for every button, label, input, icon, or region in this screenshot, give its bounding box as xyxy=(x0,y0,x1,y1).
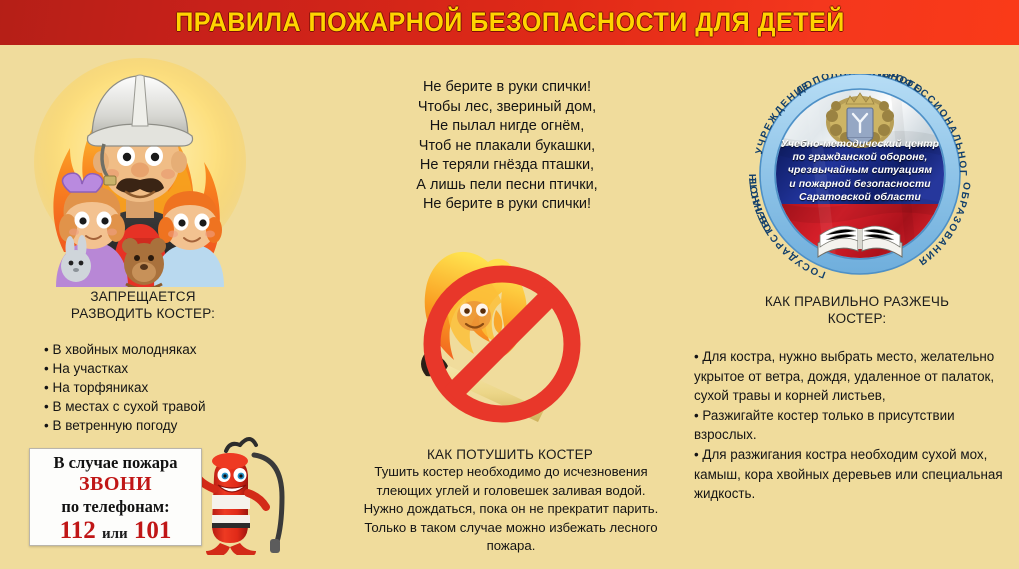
right-section-heading: КАК ПРАВИЛЬНО РАЗЖЕЧЬ КОСТЕР: xyxy=(712,293,1002,327)
phone-numbers: 112 или 101 xyxy=(30,517,201,548)
phone-line-1: В случае пожара xyxy=(30,453,201,473)
poem-line: Не пылал нигде огнём, xyxy=(352,117,662,137)
phone-number-101: 101 xyxy=(134,517,172,544)
list-item: • На участках xyxy=(44,359,274,378)
list-item: • В местах с сухой травой xyxy=(44,397,274,416)
phone-separator: или xyxy=(102,526,128,542)
fire-extinguisher-mascot xyxy=(192,427,300,555)
emblem-center-line: чрезвычайным ситуациям xyxy=(760,164,960,177)
poem-line: Не берите в руки спички! xyxy=(352,195,662,215)
phone-call-label: ЗВОНИ xyxy=(30,473,201,496)
fireman-with-children-illustration xyxy=(26,52,254,287)
center-body-line: Тушить костер необходимо до исчезновения xyxy=(318,463,704,482)
center-body-line: Нужно дождаться, пока он не прекратит па… xyxy=(318,500,704,519)
phone-number-112: 112 xyxy=(60,517,96,544)
center-body-line: пожара. xyxy=(318,537,704,556)
fire-safety-poster: ПРАВИЛА ПОЖАРНОЙ БЕЗОПАСНОСТИ ДЛЯ ДЕТЕЙ xyxy=(0,0,1019,569)
emblem-center-line: Учебно-методический центр xyxy=(760,138,960,151)
left-heading-line2: РАЗВОДИТЬ КОСТЕР: xyxy=(28,305,258,322)
center-section-body: Тушить костер необходимо до исчезновения… xyxy=(318,463,704,556)
campfire-instructions-list: • Для костра, нужно выбрать место, желат… xyxy=(694,347,1014,504)
poem-line: Чтоб не плакали букашки, xyxy=(352,137,662,157)
emergency-phone-sign: В случае пожара ЗВОНИ по телефонам: 112 … xyxy=(29,448,202,546)
list-item: • Для разжигания костра необходим сухой … xyxy=(694,445,1014,504)
list-item: • Для костра, нужно выбрать место, желат… xyxy=(694,347,1014,406)
prohibited-places-list: • В хвойных молодняках • На участках • Н… xyxy=(44,340,274,435)
no-matches-prohibition-sign xyxy=(392,232,590,428)
poem-line: А лишь пели песни птички, xyxy=(352,176,662,196)
emblem-center-line: Саратовской области xyxy=(760,191,960,204)
list-item: • На торфяниках xyxy=(44,378,274,397)
poster-header-banner: ПРАВИЛА ПОЖАРНОЙ БЕЗОПАСНОСТИ ДЛЯ ДЕТЕЙ xyxy=(0,0,1019,45)
organization-emblem: ДОПОЛНИТЕЛЬНОГО УЧРЕЖДЕНИЕ ПРОФЕССИОНАЛЬ… xyxy=(714,74,1006,279)
center-body-line: Только в таком случае можно избежать лес… xyxy=(318,519,704,538)
poem-line: Не теряли гнёзда пташки, xyxy=(352,156,662,176)
left-section-heading: ЗАПРЕЩАЕТСЯ РАЗВОДИТЬ КОСТЕР: xyxy=(28,288,258,322)
emblem-center-line: и пожарной безопасности xyxy=(760,178,960,191)
phone-line-3: по телефонам: xyxy=(30,496,201,517)
emblem-center-text: Учебно-методический центр по гражданской… xyxy=(760,138,960,204)
left-heading-line1: ЗАПРЕЩАЕТСЯ xyxy=(28,288,258,305)
poem-text: Не берите в руки спички! Чтобы лес, звер… xyxy=(352,78,662,215)
list-item: • В хвойных молодняках xyxy=(44,340,274,359)
list-item: • Разжигайте костер только в присутствии… xyxy=(694,406,1014,445)
center-section-heading: КАК ПОТУШИТЬ КОСТЕР xyxy=(320,446,700,463)
center-body-line: тлеющих углей и головешек заливая водой. xyxy=(318,482,704,501)
right-heading-line1: КАК ПРАВИЛЬНО РАЗЖЕЧЬ xyxy=(712,293,1002,310)
right-heading-line2: КОСТЕР: xyxy=(712,310,1002,327)
poem-line: Не берите в руки спички! xyxy=(352,78,662,98)
poem-line: Чтобы лес, звериный дом, xyxy=(352,98,662,118)
page-title: ПРАВИЛА ПОЖАРНОЙ БЕЗОПАСНОСТИ ДЛЯ ДЕТЕЙ xyxy=(175,7,845,38)
emblem-center-line: по гражданской обороне, xyxy=(760,151,960,164)
